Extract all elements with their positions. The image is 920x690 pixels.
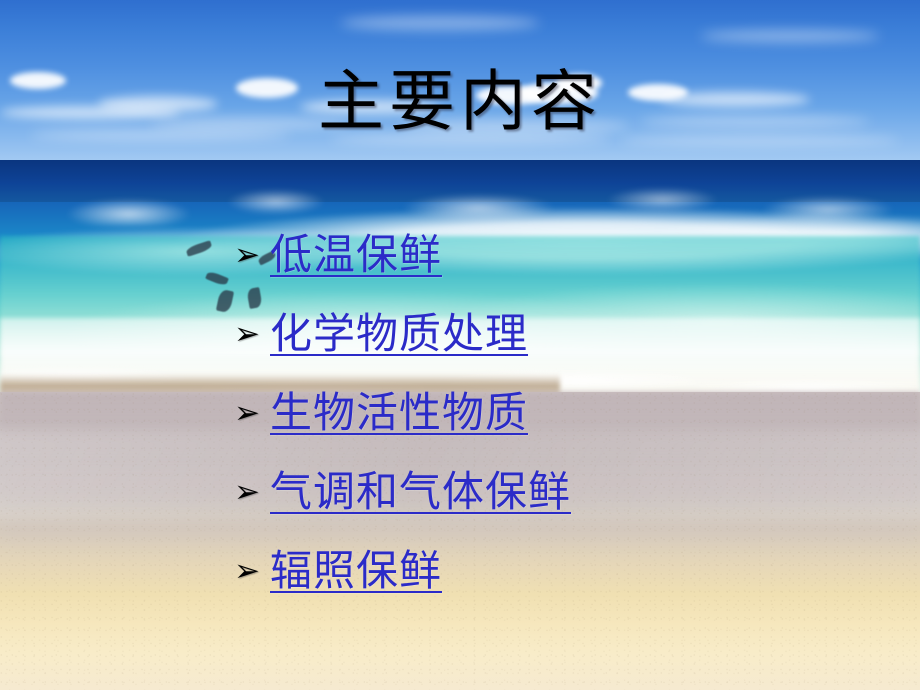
arrowhead-bullet-icon: ➢ [234,390,270,436]
arrowhead-bullet-icon: ➢ [234,232,270,278]
bullet-link-label[interactable]: 化学物质处理 [270,311,528,357]
arrowhead-bullet-icon: ➢ [234,548,270,594]
cloud-icon [700,30,880,42]
arrowhead-bullet-icon: ➢ [234,311,270,357]
bullet-link-label[interactable]: 低温保鲜 [270,232,442,278]
arrowhead-bullet-icon: ➢ [234,469,270,515]
bullet-item-modified-atmosphere-preservation[interactable]: ➢ 气调和气体保鲜 [234,469,874,548]
bullet-item-irradiation-preservation[interactable]: ➢ 辐照保鲜 [234,548,874,627]
bullet-link-label[interactable]: 气调和气体保鲜 [270,469,571,515]
presentation-slide: 主要内容 ➢ 低温保鲜 ➢ 化学物质处理 ➢ 生物活性物质 ➢ 气调和气体保鲜 … [0,0,920,690]
cloud-icon [340,16,540,30]
slide-title: 主要内容 [0,66,920,139]
bullet-link-label[interactable]: 辐照保鲜 [270,548,442,594]
bullet-item-low-temperature-preservation[interactable]: ➢ 低温保鲜 [234,232,874,311]
bullet-item-bioactive-substances[interactable]: ➢ 生物活性物质 [234,390,874,469]
bullet-item-chemical-treatment[interactable]: ➢ 化学物质处理 [234,311,874,390]
bullet-list: ➢ 低温保鲜 ➢ 化学物质处理 ➢ 生物活性物质 ➢ 气调和气体保鲜 ➢ 辐照保… [234,232,874,627]
bullet-link-label[interactable]: 生物活性物质 [270,390,528,436]
